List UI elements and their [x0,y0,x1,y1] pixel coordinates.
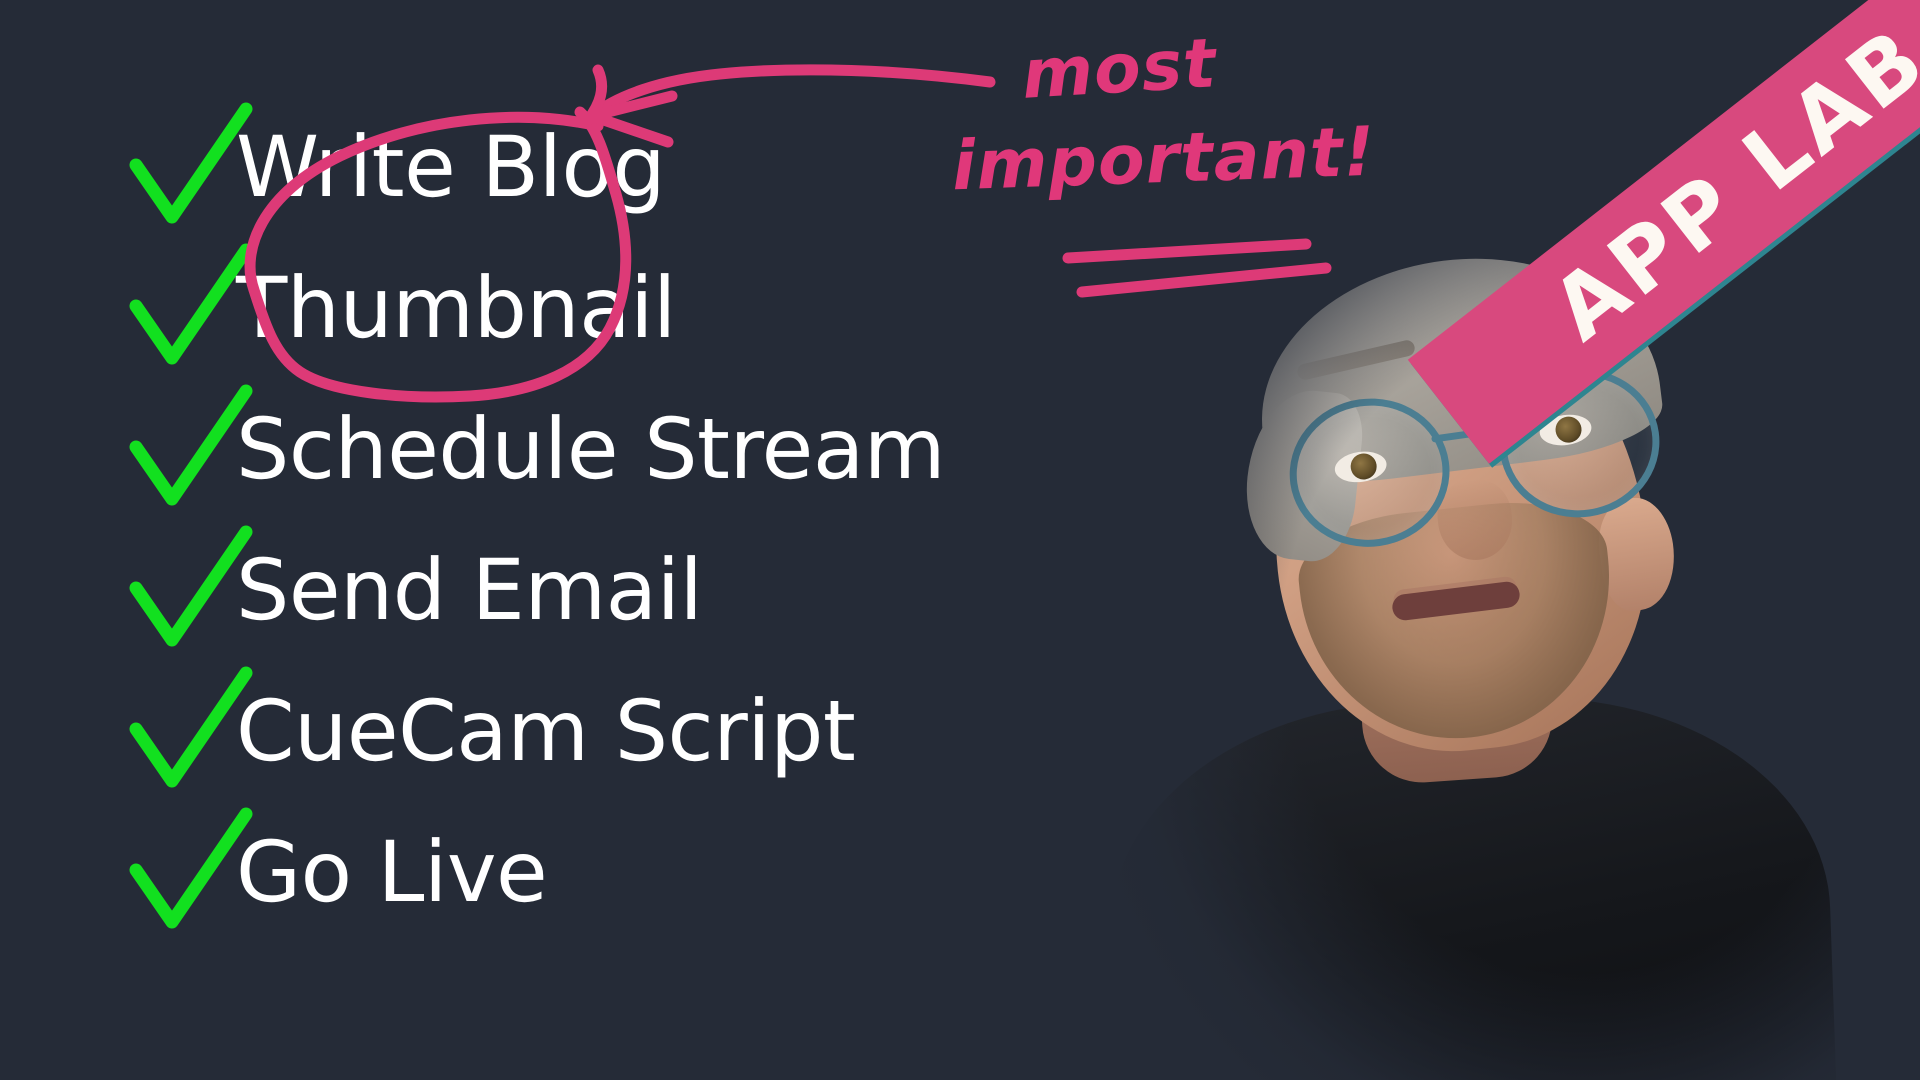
annotation-text-important: important! [951,113,1377,207]
checklist-row-schedule-stream[interactable]: Schedule Stream [118,378,1238,519]
thumbnail-canvas: Write Blog Thumbnail Schedule Stream [0,0,1920,1080]
checklist-row-send-email[interactable]: Send Email [118,519,1238,660]
checklist-row-thumbnail[interactable]: Thumbnail [118,237,1238,378]
check-icon [126,665,258,797]
checklist-item-label: CueCam Script [236,689,855,773]
checklist-item-label: Schedule Stream [236,407,945,491]
checklist-item-label: Write Blog [236,125,665,209]
annotation-text-most: most [1020,24,1219,115]
checklist-item-label: Thumbnail [236,266,676,350]
check-icon [126,524,258,656]
checklist-row-go-live[interactable]: Go Live [118,801,1238,942]
check-icon [126,806,258,938]
check-icon [126,101,258,233]
checklist-item-label: Go Live [236,830,547,914]
checklist: Write Blog Thumbnail Schedule Stream [118,96,1238,942]
checklist-item-label: Send Email [236,548,702,632]
thumbnail-background: Write Blog Thumbnail Schedule Stream [0,0,1920,1080]
check-icon [126,242,258,374]
checklist-row-cuecam-script[interactable]: CueCam Script [118,660,1238,801]
check-icon [126,383,258,515]
